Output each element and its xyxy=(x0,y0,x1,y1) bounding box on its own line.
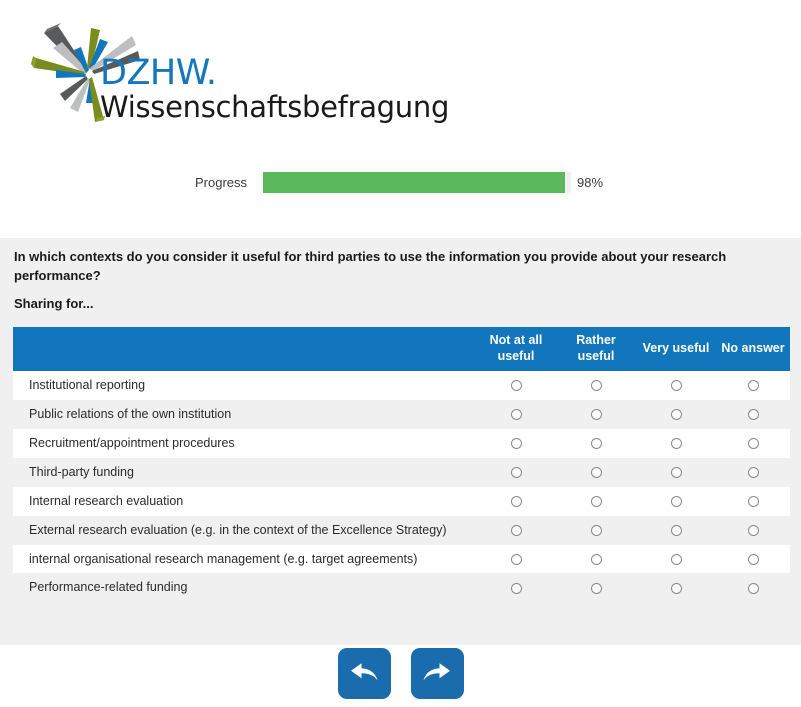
matrix-option-cell[interactable] xyxy=(716,487,790,516)
matrix-option-cell[interactable] xyxy=(556,516,636,545)
radio-button[interactable] xyxy=(511,438,522,449)
matrix-option-cell[interactable] xyxy=(476,400,556,429)
radio-button[interactable] xyxy=(748,496,759,507)
matrix-row-label: Institutional reporting xyxy=(13,371,476,400)
radio-button[interactable] xyxy=(671,467,682,478)
radio-button[interactable] xyxy=(511,380,522,391)
matrix-option-cell[interactable] xyxy=(636,371,716,400)
brand-logo: DZHW. Wissenschaftsbefragung xyxy=(12,8,392,128)
matrix-row-label: Public relations of the own institution xyxy=(13,400,476,429)
radio-button[interactable] xyxy=(511,409,522,420)
matrix-row-label: Performance-related funding xyxy=(13,573,476,602)
radio-button[interactable] xyxy=(511,496,522,507)
matrix-option-cell[interactable] xyxy=(716,516,790,545)
radio-button[interactable] xyxy=(671,583,682,594)
matrix-row-label: Recruitment/appointment procedures xyxy=(13,429,476,458)
radio-button[interactable] xyxy=(591,380,602,391)
radio-button[interactable] xyxy=(671,496,682,507)
progress-bar-container: Progress 98% xyxy=(0,172,801,198)
matrix-option-cell[interactable] xyxy=(716,573,790,602)
progress-track xyxy=(263,172,571,193)
matrix-header-very-useful: Very useful xyxy=(636,327,716,371)
brand-wordmark: DZHW. Wissenschaftsbefragung xyxy=(100,56,449,122)
matrix-option-cell[interactable] xyxy=(476,429,556,458)
question-text: In which contexts do you consider it use… xyxy=(14,248,754,286)
matrix-option-cell[interactable] xyxy=(556,429,636,458)
radio-button[interactable] xyxy=(511,467,522,478)
matrix-header-row: Not at all useful Rather useful Very use… xyxy=(13,327,790,371)
radio-button[interactable] xyxy=(591,583,602,594)
matrix-option-cell[interactable] xyxy=(636,487,716,516)
matrix-header-label-col xyxy=(13,327,476,371)
page-header: DZHW. Wissenschaftsbefragung xyxy=(0,0,801,140)
table-row: External research evaluation (e.g. in th… xyxy=(13,516,790,545)
table-row: Third-party funding xyxy=(13,458,790,487)
radio-button[interactable] xyxy=(511,525,522,536)
matrix-row-label: Third-party funding xyxy=(13,458,476,487)
matrix-option-cell[interactable] xyxy=(476,458,556,487)
radio-button[interactable] xyxy=(591,496,602,507)
question-panel: In which contexts do you consider it use… xyxy=(0,238,801,645)
matrix-option-cell[interactable] xyxy=(716,458,790,487)
brand-subtitle: Wissenschaftsbefragung xyxy=(100,93,449,122)
matrix-option-cell[interactable] xyxy=(716,545,790,574)
progress-percent-text: 98% xyxy=(577,175,603,190)
matrix-option-cell[interactable] xyxy=(556,545,636,574)
table-row: Institutional reporting xyxy=(13,371,790,400)
response-matrix-table: Not at all useful Rather useful Very use… xyxy=(13,327,790,602)
matrix-option-cell[interactable] xyxy=(636,545,716,574)
radio-button[interactable] xyxy=(671,525,682,536)
radio-button[interactable] xyxy=(671,380,682,391)
table-row: Internal research evaluation xyxy=(13,487,790,516)
table-row: Recruitment/appointment procedures xyxy=(13,429,790,458)
matrix-option-cell[interactable] xyxy=(476,371,556,400)
progress-label: Progress xyxy=(195,175,247,190)
navigation-buttons xyxy=(0,648,801,707)
radio-button[interactable] xyxy=(591,467,602,478)
radio-button[interactable] xyxy=(671,438,682,449)
arrow-next-icon xyxy=(420,659,454,689)
matrix-option-cell[interactable] xyxy=(636,573,716,602)
matrix-option-cell[interactable] xyxy=(476,573,556,602)
back-button[interactable] xyxy=(338,648,391,699)
matrix-option-cell[interactable] xyxy=(476,545,556,574)
question-subtext: Sharing for... xyxy=(14,296,93,311)
matrix-header-rather-useful: Rather useful xyxy=(556,327,636,371)
matrix-option-cell[interactable] xyxy=(636,429,716,458)
radio-button[interactable] xyxy=(671,409,682,420)
radio-button[interactable] xyxy=(591,554,602,565)
matrix-option-cell[interactable] xyxy=(556,400,636,429)
matrix-option-cell[interactable] xyxy=(556,371,636,400)
brand-name: DZHW. xyxy=(100,56,449,91)
matrix-header-not-at-all-useful: Not at all useful xyxy=(476,327,556,371)
matrix-option-cell[interactable] xyxy=(716,400,790,429)
radio-button[interactable] xyxy=(748,554,759,565)
matrix-header-no-answer: No answer xyxy=(716,327,790,371)
radio-button[interactable] xyxy=(748,409,759,420)
matrix-option-cell[interactable] xyxy=(556,458,636,487)
progress-fill xyxy=(263,172,565,193)
radio-button[interactable] xyxy=(748,438,759,449)
matrix-option-cell[interactable] xyxy=(556,487,636,516)
radio-button[interactable] xyxy=(511,583,522,594)
radio-button[interactable] xyxy=(671,554,682,565)
radio-button[interactable] xyxy=(511,554,522,565)
radio-button[interactable] xyxy=(591,525,602,536)
arrow-back-icon xyxy=(347,659,381,689)
matrix-row-label: Internal research evaluation xyxy=(13,487,476,516)
radio-button[interactable] xyxy=(748,583,759,594)
table-row: Public relations of the own institution xyxy=(13,400,790,429)
radio-button[interactable] xyxy=(748,380,759,391)
matrix-option-cell[interactable] xyxy=(476,516,556,545)
matrix-option-cell[interactable] xyxy=(636,516,716,545)
matrix-option-cell[interactable] xyxy=(476,487,556,516)
matrix-row-label: External research evaluation (e.g. in th… xyxy=(13,516,476,545)
radio-button[interactable] xyxy=(591,409,602,420)
radio-button[interactable] xyxy=(748,525,759,536)
matrix-option-cell[interactable] xyxy=(716,371,790,400)
matrix-option-cell[interactable] xyxy=(556,573,636,602)
matrix-option-cell[interactable] xyxy=(636,458,716,487)
matrix-row-label: internal organisational research managem… xyxy=(13,545,476,574)
matrix-header: Not at all useful Rather useful Very use… xyxy=(13,327,790,371)
table-row: Performance-related funding xyxy=(13,573,790,602)
matrix-option-cell[interactable] xyxy=(636,400,716,429)
matrix-option-cell[interactable] xyxy=(716,429,790,458)
radio-button[interactable] xyxy=(748,467,759,478)
next-button[interactable] xyxy=(411,648,464,699)
matrix-body: Institutional reportingPublic relations … xyxy=(13,371,790,602)
radio-button[interactable] xyxy=(591,438,602,449)
table-row: internal organisational research managem… xyxy=(13,545,790,574)
